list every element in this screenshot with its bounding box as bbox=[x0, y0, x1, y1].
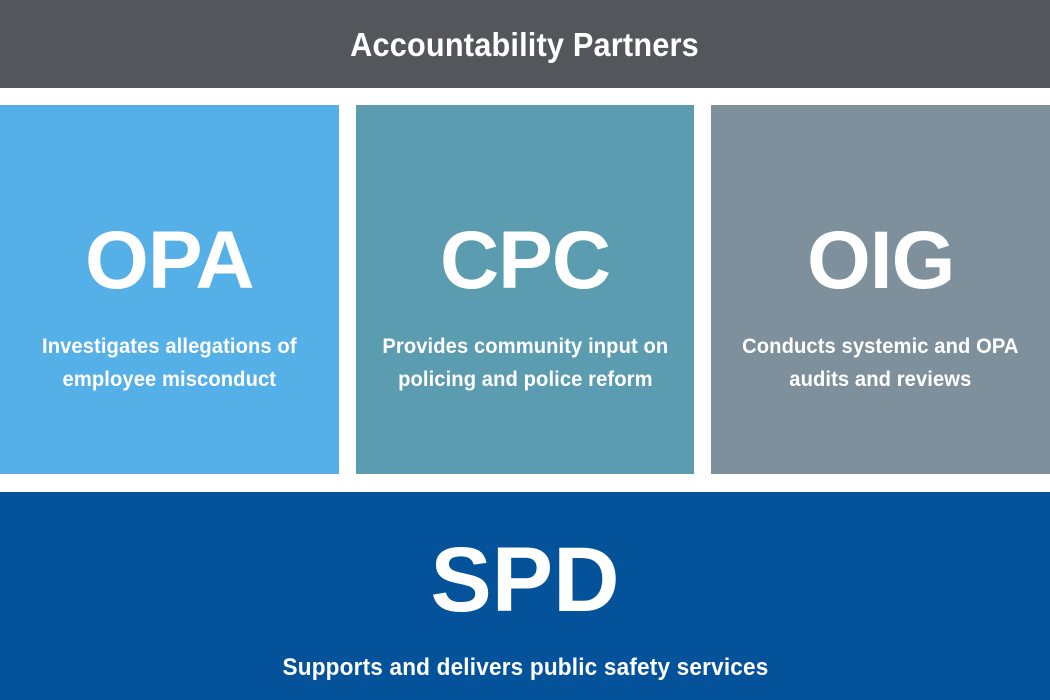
partner-acronym-cpc: CPC bbox=[440, 220, 610, 302]
partner-description-cpc: Provides community input on policing and… bbox=[362, 330, 687, 396]
partner-cards-row: OPA Investigates allegations of employee… bbox=[0, 105, 1050, 474]
partner-card-cpc: CPC Provides community input on policing… bbox=[356, 105, 695, 474]
spd-banner: SPD Supports and delivers public safety … bbox=[0, 492, 1050, 700]
partner-acronym-oig: OIG bbox=[807, 220, 954, 302]
partner-card-opa: OPA Investigates allegations of employee… bbox=[0, 105, 339, 474]
spd-description: Supports and delivers public safety serv… bbox=[282, 656, 768, 680]
header-banner: Accountability Partners bbox=[0, 0, 1050, 88]
partner-card-oig: OIG Conducts systemic and OPA audits and… bbox=[711, 105, 1050, 474]
page-title: Accountability Partners bbox=[351, 28, 700, 61]
partner-description-oig: Conducts systemic and OPA audits and rev… bbox=[718, 330, 1043, 396]
partner-description-opa: Investigates allegations of employee mis… bbox=[7, 330, 332, 396]
accountability-partners-infographic: Accountability Partners OPA Investigates… bbox=[0, 0, 1050, 700]
partner-acronym-opa: OPA bbox=[85, 220, 254, 302]
spd-acronym: SPD bbox=[430, 534, 619, 626]
